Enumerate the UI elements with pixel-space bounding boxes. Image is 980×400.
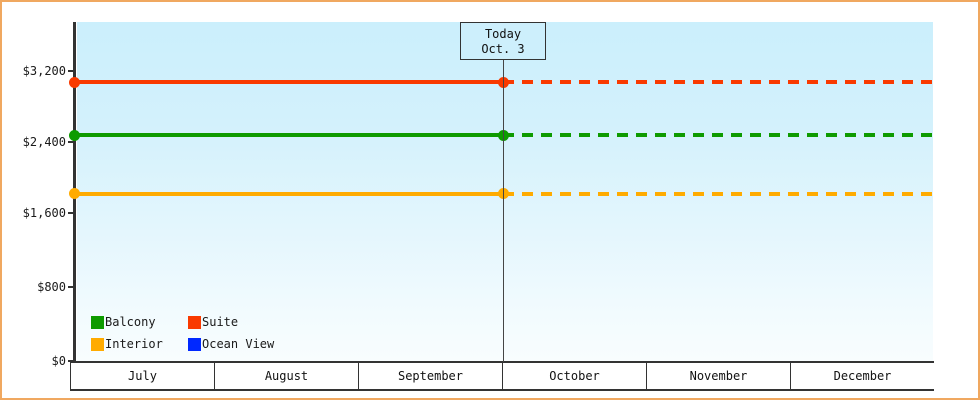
month-cell-october: October xyxy=(503,363,647,389)
legend-label-ocean-view: Ocean View xyxy=(202,338,274,351)
y-tick-mark-1600 xyxy=(68,212,76,214)
y-tick-mark-800 xyxy=(68,286,76,288)
series-line-suite-actual xyxy=(74,80,503,84)
month-cell-july: July xyxy=(70,363,215,389)
legend-item-balcony[interactable]: Balcony xyxy=(91,313,156,331)
legend-row: Balcony Suite xyxy=(91,313,301,331)
legend-swatch-balcony xyxy=(91,316,104,329)
series-line-interior-actual xyxy=(74,192,503,196)
y-tick-label: $3,200 xyxy=(23,65,66,77)
y-tick-mark-3200 xyxy=(68,70,76,72)
series-line-balcony-forecast xyxy=(503,133,933,137)
series-marker-balcony-start xyxy=(69,130,80,141)
legend-swatch-interior xyxy=(91,338,104,351)
today-vertical-line xyxy=(503,22,504,362)
y-tick-1600: $1,600 xyxy=(2,207,66,219)
y-tick-label: $800 xyxy=(37,281,66,293)
month-cell-december: December xyxy=(791,363,934,389)
legend-label-interior: Interior xyxy=(105,338,163,351)
today-callout-box: Today Oct. 3 xyxy=(460,22,546,60)
y-tick-3200: $3,200 xyxy=(2,65,66,77)
legend: Balcony Suite Interior Ocean View xyxy=(91,313,301,357)
legend-item-interior[interactable]: Interior xyxy=(91,335,163,353)
today-label: Today xyxy=(461,27,545,42)
series-marker-suite-start xyxy=(69,77,80,88)
today-date: Oct. 3 xyxy=(461,42,545,57)
y-tick-0: $0 xyxy=(2,355,66,367)
y-tick-800: $800 xyxy=(2,281,66,293)
y-tick-label: $1,600 xyxy=(23,207,66,219)
legend-label-suite: Suite xyxy=(202,316,238,329)
month-cell-september: September xyxy=(359,363,503,389)
y-tick-mark-0 xyxy=(68,360,76,362)
y-tick-mark-2400 xyxy=(68,141,76,143)
series-line-balcony-actual xyxy=(74,133,503,137)
legend-swatch-ocean-view xyxy=(188,338,201,351)
month-cell-november: November xyxy=(647,363,791,389)
y-tick-label: $2,400 xyxy=(23,136,66,148)
y-tick-2400: $2,400 xyxy=(2,136,66,148)
legend-item-ocean-view[interactable]: Ocean View xyxy=(188,335,274,353)
legend-swatch-suite xyxy=(188,316,201,329)
legend-label-balcony: Balcony xyxy=(105,316,156,329)
month-axis-table: July August September October November D… xyxy=(70,363,934,391)
series-line-interior-forecast xyxy=(503,192,933,196)
legend-item-suite[interactable]: Suite xyxy=(188,313,238,331)
legend-row: Interior Ocean View xyxy=(91,335,301,353)
y-tick-label: $0 xyxy=(52,355,66,367)
chart-frame: $3,200 $2,400 $1,600 $800 $0 Today Oct. … xyxy=(0,0,980,400)
series-line-suite-forecast xyxy=(503,80,933,84)
month-cell-august: August xyxy=(215,363,359,389)
